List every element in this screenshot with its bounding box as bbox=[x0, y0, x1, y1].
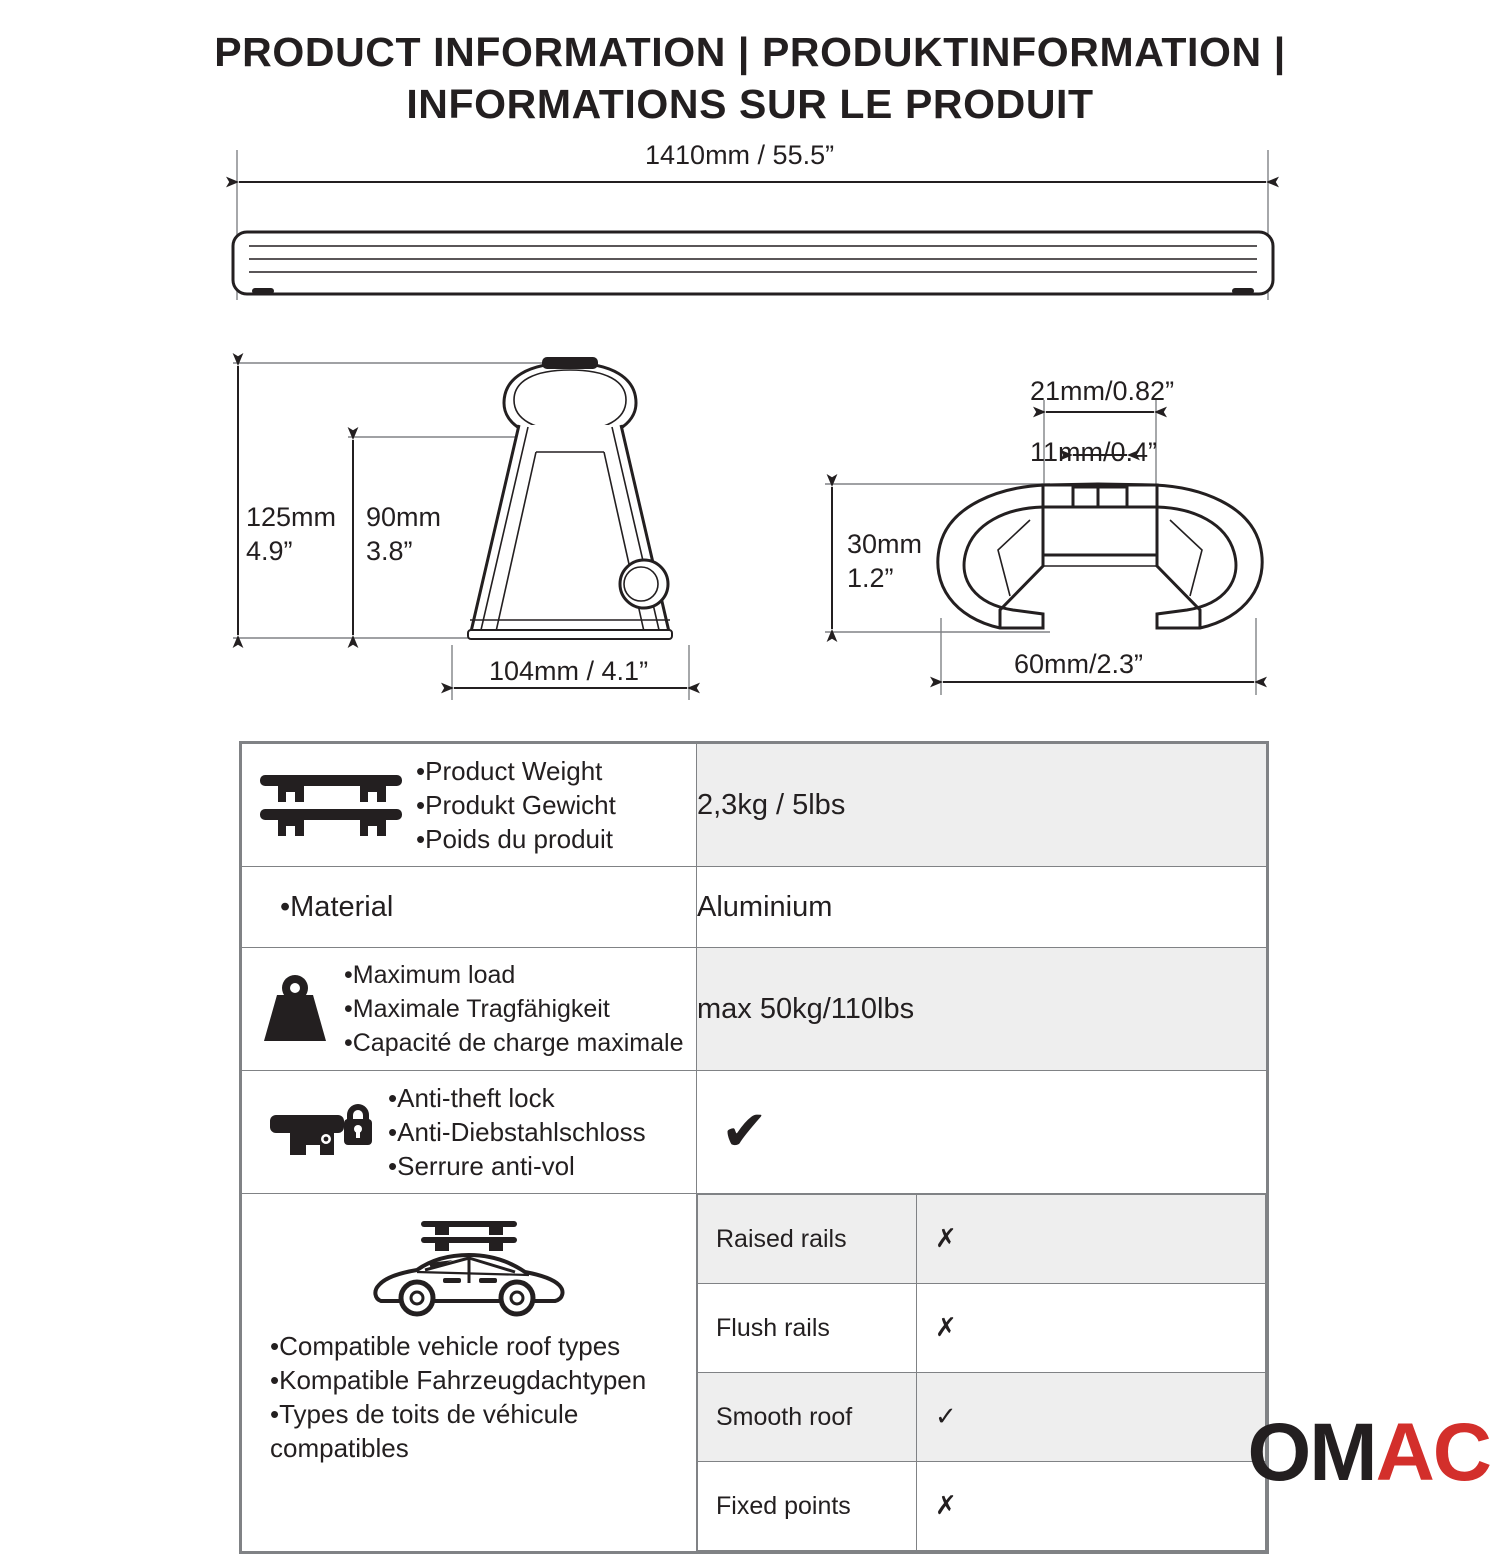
roof-type-mark-smooth-roof: ✓ bbox=[917, 1373, 1266, 1462]
roof-type-name-flush-rails: Flush rails bbox=[698, 1284, 917, 1373]
check-icon: ✓ bbox=[935, 1402, 957, 1432]
roof-type-mark-flush-rails: ✗ bbox=[917, 1284, 1266, 1373]
spec-label-weight-en: •Product Weight bbox=[416, 754, 616, 788]
spec-value-weight: 2,3kg / 5lbs bbox=[697, 744, 1267, 867]
roof-type-name-smooth-roof: Smooth roof bbox=[698, 1373, 917, 1462]
dim-foot-height-inner-in: 3.8” bbox=[366, 534, 441, 568]
weight-icon bbox=[256, 973, 334, 1045]
page-title-line-1: PRODUCT INFORMATION | PRODUKTINFORMATION… bbox=[0, 26, 1500, 78]
spec-label-roof-types-de: •Kompatible Fahrzeugdachtypen bbox=[270, 1363, 646, 1397]
cross-icon: ✗ bbox=[935, 1313, 957, 1343]
spec-label-roof-types-fr: •Types de toits de véhicule bbox=[270, 1397, 646, 1431]
table-row: •Anti-theft lock •Anti-Diebstahlschloss … bbox=[242, 1071, 1267, 1194]
table-row: •Compatible vehicle roof types •Kompatib… bbox=[242, 1194, 1267, 1552]
spec-label-cell-roof-types: •Compatible vehicle roof types •Kompatib… bbox=[242, 1194, 697, 1552]
product-spec-table: •Product Weight •Produkt Gewicht •Poids … bbox=[239, 741, 1269, 1554]
roof-type-row-flush-rails: Flush rails ✗ bbox=[698, 1284, 1266, 1373]
roof-rack-bars-icon bbox=[256, 769, 406, 841]
dim-foot-height-overall: 125mm 4.9” bbox=[246, 500, 336, 568]
dim-profile-height: 30mm 1.2” bbox=[847, 527, 922, 595]
dim-profile-height-in: 1.2” bbox=[847, 561, 922, 595]
spec-label-max-load-fr: •Capacité de charge maximale bbox=[344, 1026, 683, 1060]
table-row: •Maximum load •Maximale Tragfähigkeit •C… bbox=[242, 948, 1267, 1071]
roof-type-name-fixed-points: Fixed points bbox=[698, 1462, 917, 1551]
spec-label-cell-max-load: •Maximum load •Maximale Tragfähigkeit •C… bbox=[242, 948, 697, 1071]
omac-logo-dark-part: OM bbox=[1247, 1407, 1375, 1498]
spec-label-lock-de: •Anti-Diebstahlschloss bbox=[388, 1115, 646, 1149]
spec-label-material: •Material bbox=[280, 890, 393, 924]
spec-label-lock-fr: •Serrure anti-vol bbox=[388, 1149, 646, 1183]
cross-icon: ✗ bbox=[935, 1491, 957, 1521]
lock-icon bbox=[268, 1099, 378, 1165]
table-row: •Product Weight •Produkt Gewicht •Poids … bbox=[242, 744, 1267, 867]
table-row: •Material Aluminium bbox=[242, 867, 1267, 948]
crossbar-top-view-group bbox=[233, 150, 1273, 300]
dim-foot-height-inner-mm: 90mm bbox=[366, 500, 441, 534]
spec-label-max-load-en: •Maximum load bbox=[344, 958, 683, 992]
cross-icon: ✗ bbox=[935, 1224, 957, 1254]
spec-label-weight-fr: •Poids du produit bbox=[416, 822, 616, 856]
spec-value-max-load: max 50kg/110lbs bbox=[697, 948, 1267, 1071]
spec-value-material: Aluminium bbox=[697, 867, 1267, 948]
dim-foot-height-inner: 90mm 3.8” bbox=[366, 500, 441, 568]
lock-check-mark: ✔ bbox=[697, 1099, 768, 1164]
car-with-roof-rack-icon bbox=[369, 1215, 569, 1325]
spec-label-roof-types: •Compatible vehicle roof types •Kompatib… bbox=[252, 1329, 646, 1465]
page-title-line-2: INFORMATIONS SUR LE PRODUIT bbox=[0, 78, 1500, 130]
roof-types-subtable: Raised rails ✗ Flush rails ✗ Smooth roof… bbox=[697, 1194, 1266, 1551]
spec-label-lock-en: •Anti-theft lock bbox=[388, 1081, 646, 1115]
roof-type-mark-raised-rails: ✗ bbox=[917, 1195, 1266, 1284]
dim-profile-slot-inner: 11mm/0.4” bbox=[1030, 436, 1157, 469]
dim-foot-width: 104mm / 4.1” bbox=[489, 655, 648, 688]
roof-type-name-raised-rails: Raised rails bbox=[698, 1195, 917, 1284]
spec-label-lock: •Anti-theft lock •Anti-Diebstahlschloss … bbox=[388, 1081, 646, 1183]
spec-label-roof-types-en: •Compatible vehicle roof types bbox=[270, 1329, 646, 1363]
spec-label-weight: •Product Weight •Produkt Gewicht •Poids … bbox=[416, 754, 616, 856]
omac-logo: OMAC bbox=[1247, 1412, 1490, 1494]
roof-type-mark-fixed-points: ✗ bbox=[917, 1462, 1266, 1551]
spec-label-roof-types-fr-cont: compatibles bbox=[270, 1431, 646, 1465]
page-title: PRODUCT INFORMATION | PRODUKTINFORMATION… bbox=[0, 26, 1500, 130]
spec-label-max-load: •Maximum load •Maximale Tragfähigkeit •C… bbox=[344, 958, 683, 1060]
dim-profile-slot-outer: 21mm/0.82” bbox=[1030, 375, 1174, 408]
roof-types-cell: Raised rails ✗ Flush rails ✗ Smooth roof… bbox=[697, 1194, 1267, 1552]
omac-logo-accent-part: AC bbox=[1376, 1407, 1490, 1498]
dim-profile-width: 60mm/2.3” bbox=[1014, 648, 1143, 681]
roof-type-row-raised-rails: Raised rails ✗ bbox=[698, 1195, 1266, 1284]
spec-label-max-load-de: •Maximale Tragfähigkeit bbox=[344, 992, 683, 1026]
dim-profile-height-mm: 30mm bbox=[847, 527, 922, 561]
spec-value-lock: ✔ bbox=[697, 1071, 1267, 1194]
spec-label-cell-lock: •Anti-theft lock •Anti-Diebstahlschloss … bbox=[242, 1071, 697, 1194]
dim-foot-height-overall-mm: 125mm bbox=[246, 500, 336, 534]
roof-type-row-fixed-points: Fixed points ✗ bbox=[698, 1462, 1266, 1551]
roof-type-row-smooth-roof: Smooth roof ✓ bbox=[698, 1373, 1266, 1462]
spec-label-weight-de: •Produkt Gewicht bbox=[416, 788, 616, 822]
spec-label-cell-weight: •Product Weight •Produkt Gewicht •Poids … bbox=[242, 744, 697, 867]
dim-foot-height-overall-in: 4.9” bbox=[246, 534, 336, 568]
spec-label-cell-material: •Material bbox=[242, 867, 697, 948]
dim-bar-length: 1410mm / 55.5” bbox=[645, 139, 834, 172]
